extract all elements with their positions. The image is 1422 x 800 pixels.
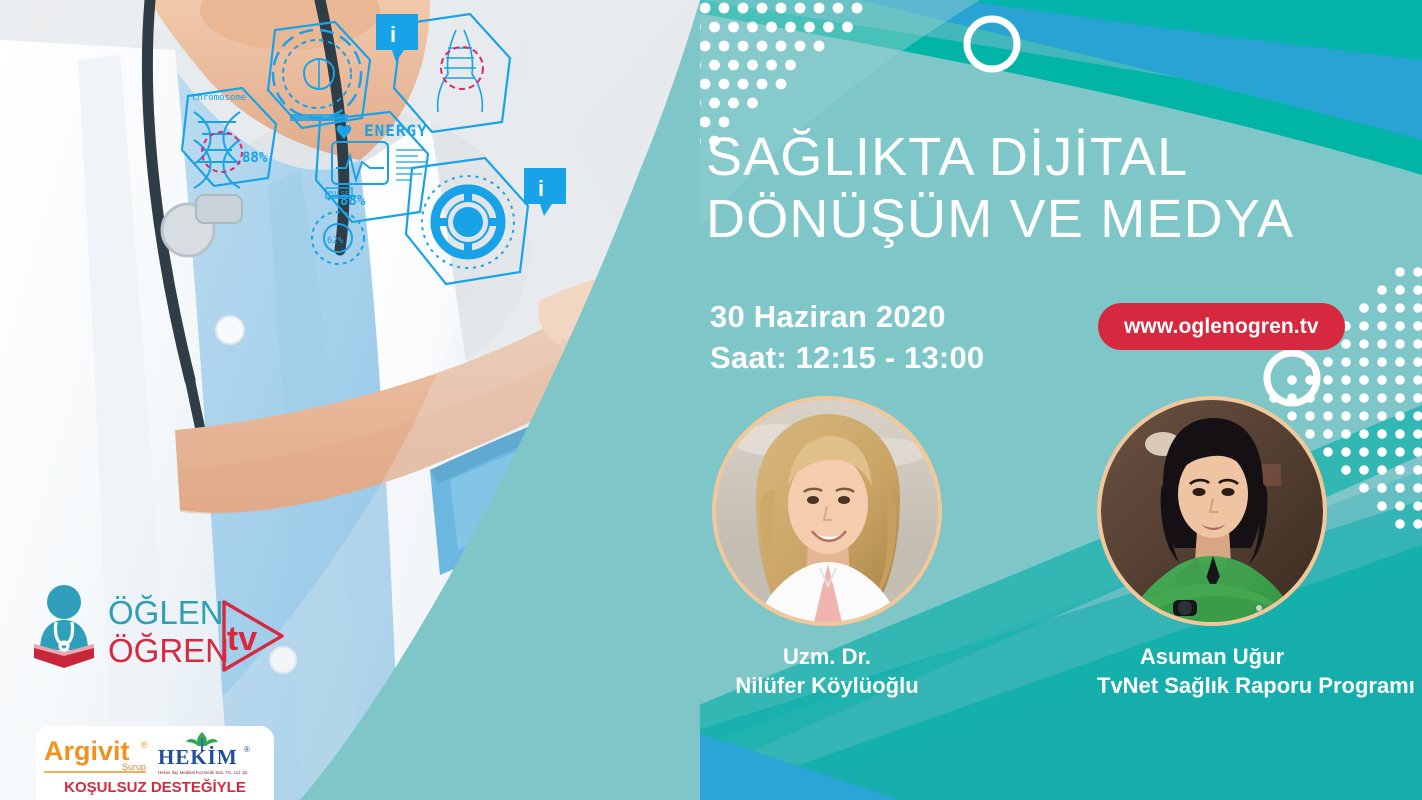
hud-info-badge-1: i bbox=[376, 14, 418, 62]
svg-text:i: i bbox=[538, 176, 544, 201]
tv-play-badge: tv bbox=[224, 602, 282, 670]
sponsor-brand-1: Argivit bbox=[44, 736, 130, 766]
website-url-button[interactable]: www.oglenogren.tv bbox=[1098, 303, 1345, 350]
promo-banner: chromosome 88% ENERGY 88% 62% PULSE bbox=[0, 0, 1422, 800]
svg-text:®: ® bbox=[141, 740, 148, 750]
sponsor-brand-1-sub: Şurup bbox=[122, 762, 146, 772]
speaker-1-avatar bbox=[712, 396, 942, 626]
hud-pulse-percent: 62% bbox=[327, 236, 344, 246]
medical-hud-graphic: chromosome 88% ENERGY 88% 62% PULSE bbox=[180, 0, 580, 310]
oglen-ogren-tv-logo[interactable]: ÖĞLEN ÖĞREN tv bbox=[28, 578, 298, 688]
website-url-label: www.oglenogren.tv bbox=[1124, 315, 1319, 339]
event-date: 30 Haziran 2020 bbox=[710, 296, 984, 337]
speaker-2-avatar bbox=[1097, 396, 1327, 626]
sponsor-brand-2-sub: Hekim İlaç Medikal Kozmetik San. Tic. Lt… bbox=[158, 770, 249, 775]
speaker-card-1: Uzm. Dr. Nilüfer Köylüoğlu bbox=[712, 396, 942, 700]
sponsor-brand-2: HEKİM bbox=[158, 745, 238, 769]
event-datetime: 30 Haziran 2020 Saat: 12:15 - 13:00 bbox=[710, 296, 984, 378]
speaker-2-name: Asuman Uğur bbox=[1097, 642, 1327, 671]
speaker-1-name: Nilüfer Köylüoğlu bbox=[712, 671, 942, 700]
logo-word-bottom: ÖĞREN bbox=[108, 632, 229, 669]
sponsor-tagline: KOŞULSUZ DESTEĞİYLE bbox=[64, 778, 246, 796]
title-line-1: SAĞLIKTA DİJİTAL bbox=[706, 126, 1386, 188]
hud-dna-label: chromosome bbox=[192, 93, 246, 103]
logo-word-top: ÖĞLEN bbox=[108, 594, 224, 631]
speaker-card-2: Asuman Uğur TvNet Sağlık Raporu Programı bbox=[1097, 396, 1327, 700]
svg-text:®: ® bbox=[244, 745, 250, 754]
hud-info-badge-2: i bbox=[524, 168, 566, 216]
doctor-book-icon bbox=[34, 585, 94, 668]
svg-text:i: i bbox=[390, 22, 396, 47]
svg-text:tv: tv bbox=[227, 620, 257, 658]
sponsor-logos: Argivit ® Şurup HEKİM ® Hekim İlaç Medik… bbox=[36, 726, 274, 800]
event-time: Saat: 12:15 - 13:00 bbox=[710, 337, 984, 378]
event-title: SAĞLIKTA DİJİTAL DÖNÜŞÜM VE MEDYA bbox=[706, 126, 1386, 250]
title-line-2: DÖNÜŞÜM VE MEDYA bbox=[706, 188, 1386, 250]
speaker-2-program: TvNet Sağlık Raporu Programı bbox=[1097, 671, 1327, 700]
speaker-1-title: Uzm. Dr. bbox=[712, 642, 942, 671]
hud-pulse-label: PULSE bbox=[328, 190, 349, 198]
hud-energy-label: ENERGY bbox=[364, 121, 428, 140]
hud-dna-percent: 88% bbox=[242, 150, 268, 166]
